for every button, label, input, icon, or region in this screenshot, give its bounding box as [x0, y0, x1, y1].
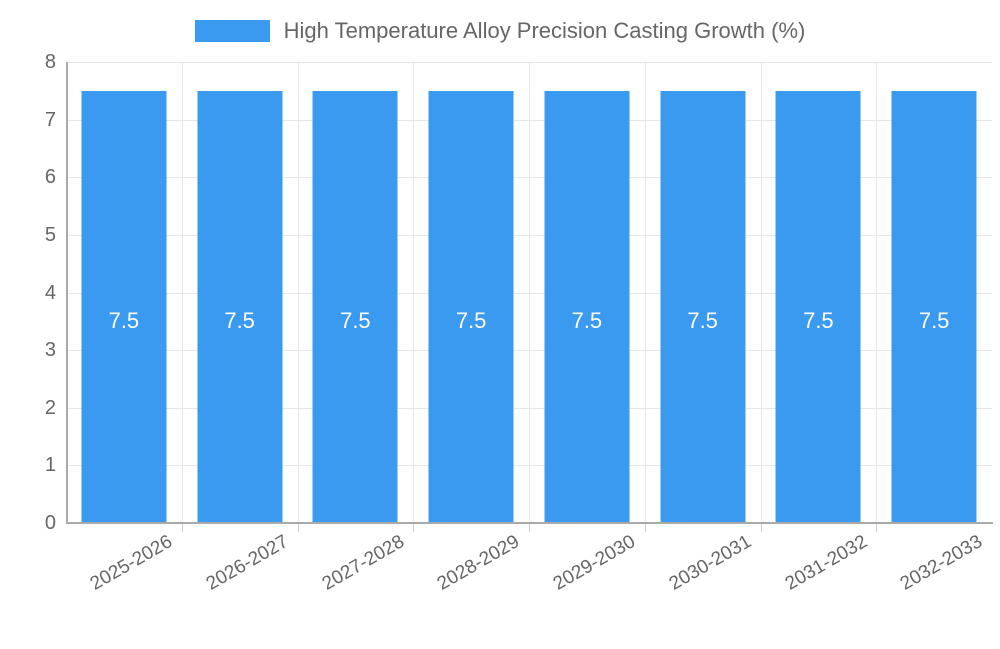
x-axis-tick-mark — [529, 524, 530, 532]
legend-swatch-icon — [195, 20, 270, 42]
y-axis-tick-label: 5 — [6, 225, 56, 245]
y-axis-tick-label: 7 — [6, 110, 56, 130]
bar-group[interactable]: 7.5 — [645, 62, 761, 523]
bar[interactable] — [660, 91, 745, 523]
x-axis-tick-labels: 2025-20262026-20272027-20282028-20292029… — [66, 532, 992, 600]
y-axis-tick-labels: 012345678 — [0, 62, 56, 523]
bar-chart: High Temperature Alloy Precision Casting… — [0, 0, 1000, 600]
y-axis-tick-label: 8 — [6, 52, 56, 72]
bar[interactable] — [892, 91, 977, 523]
y-axis-tick-label: 3 — [6, 340, 56, 360]
legend-label: High Temperature Alloy Precision Casting… — [284, 20, 806, 42]
x-axis-tick-mark — [298, 524, 299, 532]
bar-group[interactable]: 7.5 — [298, 62, 414, 523]
bar-value-label: 7.5 — [572, 310, 603, 332]
bar[interactable] — [544, 91, 629, 523]
y-axis-tick-label: 6 — [6, 167, 56, 187]
x-axis-tick-mark — [876, 524, 877, 532]
bar[interactable] — [776, 91, 861, 523]
chart-legend: High Temperature Alloy Precision Casting… — [0, 14, 1000, 48]
bar[interactable] — [81, 91, 166, 523]
x-axis-tick-mark — [761, 524, 762, 532]
bar-group[interactable]: 7.5 — [66, 62, 182, 523]
bar-group[interactable]: 7.5 — [413, 62, 529, 523]
bar-group[interactable]: 7.5 — [182, 62, 298, 523]
bar-value-label: 7.5 — [340, 310, 371, 332]
x-axis-tick-label: 2025-2026 — [0, 532, 176, 648]
bar-series: 7.57.57.57.57.57.57.57.5 — [66, 62, 992, 523]
bar[interactable] — [197, 91, 282, 523]
y-axis-tick-label: 4 — [6, 283, 56, 303]
bar-group[interactable]: 7.5 — [529, 62, 645, 523]
bar-value-label: 7.5 — [687, 310, 718, 332]
y-axis-line — [66, 62, 68, 524]
bar[interactable] — [313, 91, 398, 523]
y-axis-tick-label: 1 — [6, 455, 56, 475]
x-axis-tick-mark — [182, 524, 183, 532]
bar-group[interactable]: 7.5 — [761, 62, 877, 523]
bar-value-label: 7.5 — [109, 310, 140, 332]
y-axis-tick-label: 0 — [6, 513, 56, 533]
bar-value-label: 7.5 — [224, 310, 255, 332]
bar-value-label: 7.5 — [456, 310, 487, 332]
plot-area: 7.57.57.57.57.57.57.57.5 — [66, 62, 992, 523]
x-axis-tick-mark — [645, 524, 646, 532]
bar-value-label: 7.5 — [919, 310, 950, 332]
y-axis-tick-label: 2 — [6, 398, 56, 418]
x-axis-tick-mark — [413, 524, 414, 532]
bar[interactable] — [429, 91, 514, 523]
bar-value-label: 7.5 — [803, 310, 834, 332]
x-axis-tick-marks — [66, 524, 992, 532]
bar-group[interactable]: 7.5 — [876, 62, 992, 523]
